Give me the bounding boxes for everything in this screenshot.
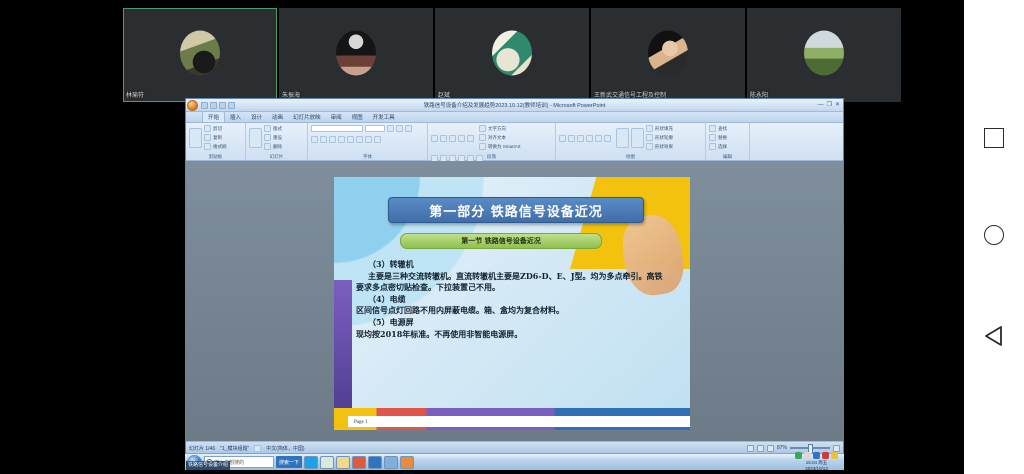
convert-smartart-label: 转换为 SmartArt [488,144,521,150]
align-text-icon[interactable] [479,134,486,141]
tray-update-icon[interactable] [831,452,838,459]
layout-icon[interactable] [264,125,271,132]
text-direction-icon[interactable] [479,125,486,132]
shape-outline-icon[interactable] [646,134,653,141]
ie-icon[interactable] [320,456,334,469]
decrease-indent-icon[interactable] [449,135,456,142]
theme-label: "1_模块组题" [220,445,249,452]
tray-volume-icon[interactable] [804,452,811,459]
decor-white-strip [348,416,690,427]
ribbon-group-clipboard: 剪切 复制 格式刷 剪贴板 [186,123,246,160]
clear-formatting-icon[interactable] [405,125,412,132]
tray-icons [795,452,838,459]
avatar [804,31,844,76]
character-spacing-icon[interactable] [356,136,363,143]
change-case-icon[interactable] [365,136,372,143]
font-color-icon[interactable] [374,136,381,143]
strikethrough-icon[interactable] [338,136,345,143]
zoom-level-label: 87% [777,445,787,451]
shapes-more-icon[interactable] [604,135,611,142]
ribbon-group-slides: 版式 重设 删除 幻灯片 [246,123,308,160]
tab-insert[interactable]: 插入 [225,112,246,122]
folder-icon[interactable] [336,456,350,469]
customize-qat-icon[interactable] [228,102,235,109]
slide-subtitle[interactable]: 第一节 铁路信号设备近况 [400,233,602,249]
quick-styles-button[interactable] [631,128,644,148]
spellcheck-icon[interactable] [254,445,261,452]
tray-network-icon[interactable] [795,452,802,459]
video-participant-strip: 林瑜符 朱振海 赵斌 王新武交通信号工程及控制 陈永阳 [123,8,901,102]
tray-security-icon[interactable] [822,452,829,459]
tab-design[interactable]: 设计 [246,112,267,122]
view-normal-icon[interactable] [747,445,754,452]
redo-icon[interactable] [219,102,226,109]
powerpoint-window: 铁路信号设备介绍及发展趋势2023.10.12(教师培训) - Microsof… [185,98,844,454]
convert-smartart-icon[interactable] [479,143,486,150]
tab-review[interactable]: 审阅 [326,112,347,122]
back-icon[interactable] [984,325,1004,347]
slide-canvas[interactable]: 第一部分 铁路信号设备近况 第一节 铁路信号设备近况 （3）转辙机 主要是三种交… [334,177,690,430]
ribbon: 剪切 复制 格式刷 剪贴板 版式 重设 删除 幻灯片 [186,123,843,161]
tray-input-method-icon[interactable] [813,452,820,459]
slide-title[interactable]: 第一部分 铁路信号设备近况 [388,197,644,223]
shape-outline-label: 形状轮廓 [655,135,673,141]
bold-icon[interactable] [311,136,318,143]
copy-icon[interactable] [204,134,211,141]
select-label: 选择 [718,144,727,150]
minimize-button[interactable]: — [818,101,824,109]
windows-taskbar: 搜入你想搜的 搜索一下 15:04 周五 2023/10/13 [185,453,844,470]
ribbon-group-font: 字体 [308,123,428,160]
ribbon-group-drawing: 形状填充 形状轮廓 形状效果 绘图 [556,123,706,160]
delete-label: 删除 [273,144,282,150]
copy-label: 复制 [213,135,222,141]
slide-page-number: Page 1 [354,420,367,425]
font-family-input[interactable] [311,125,363,132]
replace-label: 替换 [718,135,727,141]
format-painter-label: 格式刷 [213,144,227,150]
cut-label: 剪切 [213,126,222,132]
body-line-6: 现均按2018年标准。不再使用非智能电源屏。 [356,329,666,341]
tab-developer[interactable]: 开发工具 [368,112,400,122]
status-right: 87% [747,445,840,452]
reset-label: 重设 [273,135,282,141]
recents-icon[interactable] [984,128,1004,148]
tab-view[interactable]: 视图 [347,112,368,122]
numbering-icon[interactable] [440,135,447,142]
search-button[interactable]: 搜索一下 [276,456,302,468]
body-line-2: 主要是三种交流转辙机。直流转辙机主要是ZD6-D、E、J型。均为多点牵引。高铁要… [356,271,666,294]
close-button[interactable]: ✕ [835,101,840,109]
participant-name: 林瑜符 [126,92,144,100]
quick-access-toolbar [201,102,235,109]
reset-icon[interactable] [264,134,271,141]
cut-icon[interactable] [204,125,211,132]
window-controls: — ❐ ✕ [818,101,843,109]
slide-editing-area[interactable]: 第一部分 铁路信号设备近况 第一节 铁路信号设备近况 （3）转辙机 主要是三种交… [186,161,843,441]
increase-indent-icon[interactable] [458,135,465,142]
replace-icon[interactable] [709,134,716,141]
shape-rectangle-icon[interactable] [559,135,566,142]
increase-font-size-icon[interactable] [387,125,394,132]
app-orange-icon[interactable] [400,456,414,469]
group-label-font: 字体 [308,154,427,160]
save-icon[interactable] [201,102,208,109]
shape-fill-label: 形状填充 [655,126,673,132]
shape-square-icon[interactable] [595,135,602,142]
find-icon[interactable] [709,125,716,132]
language-label: 中文(简体，中国) [266,445,304,452]
avatar [336,31,376,76]
tab-animation[interactable]: 动画 [267,112,288,122]
view-sorter-icon[interactable] [757,445,764,452]
line-spacing-icon[interactable] [467,135,474,142]
undo-icon[interactable] [210,102,217,109]
zoom-slider[interactable] [790,447,830,449]
participant-tile[interactable]: 朱振海 [279,8,433,102]
body-line-3: （4）电缆 [356,294,666,306]
avatar [492,31,532,76]
home-icon[interactable] [984,225,1004,245]
fit-to-window-icon[interactable] [833,445,840,452]
shape-arrow-icon[interactable] [586,135,593,142]
slide-count-label: 幻灯片 1/46 [189,445,215,452]
italic-icon[interactable] [320,136,327,143]
slide-body-text[interactable]: （3）转辙机 主要是三种交流转辙机。直流转辙机主要是ZD6-D、E、J型。均为多… [356,259,666,340]
group-label-paragraph: 段落 [428,154,555,160]
align-text-label: 对齐文本 [488,135,506,141]
ribbon-group-editing: 查找 替换 选择 编辑 [706,123,750,160]
taskbar-active-window[interactable]: 铁路信号设备介绍 [186,461,230,470]
bullets-icon[interactable] [431,135,438,142]
view-slideshow-icon[interactable] [767,445,774,452]
avatar [180,31,220,76]
group-label-drawing: 绘图 [556,154,705,160]
decrease-font-size-icon[interactable] [396,125,403,132]
group-label-editing: 编辑 [706,154,749,160]
paste-button[interactable] [189,128,202,148]
participant-tile[interactable]: 赵斌 [435,8,589,102]
delete-icon[interactable] [264,143,271,150]
app-blue-icon[interactable] [368,456,382,469]
body-line-5: （5）电源屏 [356,317,666,329]
shape-effects-label: 形状效果 [655,144,673,150]
app-green-icon[interactable] [384,456,398,469]
tab-slideshow[interactable]: 幻灯片放映 [288,112,326,122]
shape-effects-icon[interactable] [646,143,653,150]
window-title: 铁路信号设备介绍及发展趋势2023.10.12(教师培训) - Microsof… [186,101,843,109]
tab-home[interactable]: 开始 [202,111,225,122]
body-line-4: 区间信号点灯回路不用内屏蔽电缆。箱、盒均为复合材料。 [356,305,666,317]
ribbon-tabs: 开始 插入 设计 动画 幻灯片放映 审阅 视图 开发工具 [186,112,843,123]
group-label-slides: 幻灯片 [246,154,307,160]
shape-fill-icon[interactable] [646,125,653,132]
ribbon-group-paragraph: 文字方向 对齐文本 转换为 SmartArt 段落 [428,123,556,160]
screen: 林瑜符 朱振海 赵斌 王新武交通信号工程及控制 陈永阳 [0,0,1024,474]
clock-date[interactable]: 2023/10/13 [795,466,838,472]
layout-label: 版式 [273,126,282,132]
office-orb-icon[interactable] [187,100,198,111]
participant-tile[interactable]: 林瑜符 [123,8,277,102]
shape-line-icon[interactable] [577,135,584,142]
avatar [648,31,688,76]
system-tray: 15:04 周五 2023/10/13 [795,452,842,472]
android-navigation-bar [964,0,1024,474]
participant-tile[interactable]: 陈永阳 [747,8,901,102]
title-bar: 铁路信号设备介绍及发展趋势2023.10.12(教师培训) - Microsof… [186,99,843,112]
qq-icon[interactable] [304,456,318,469]
restore-button[interactable]: ❐ [827,101,832,109]
arrange-button[interactable] [616,128,629,148]
body-line-1: （3）转辙机 [356,259,666,271]
underline-icon[interactable] [329,136,336,143]
new-slide-button[interactable] [249,128,262,148]
shadow-icon[interactable] [347,136,354,143]
group-label-clipboard: 剪贴板 [186,154,245,160]
find-label: 查找 [718,126,727,132]
shape-rounded-icon[interactable] [568,135,575,142]
font-size-input[interactable] [365,125,385,132]
chrome-icon[interactable] [352,456,366,469]
format-painter-icon[interactable] [204,143,211,150]
text-direction-label: 文字方向 [488,126,506,132]
participant-tile[interactable]: 王新武交通信号工程及控制 [591,8,745,102]
select-icon[interactable] [709,143,716,150]
